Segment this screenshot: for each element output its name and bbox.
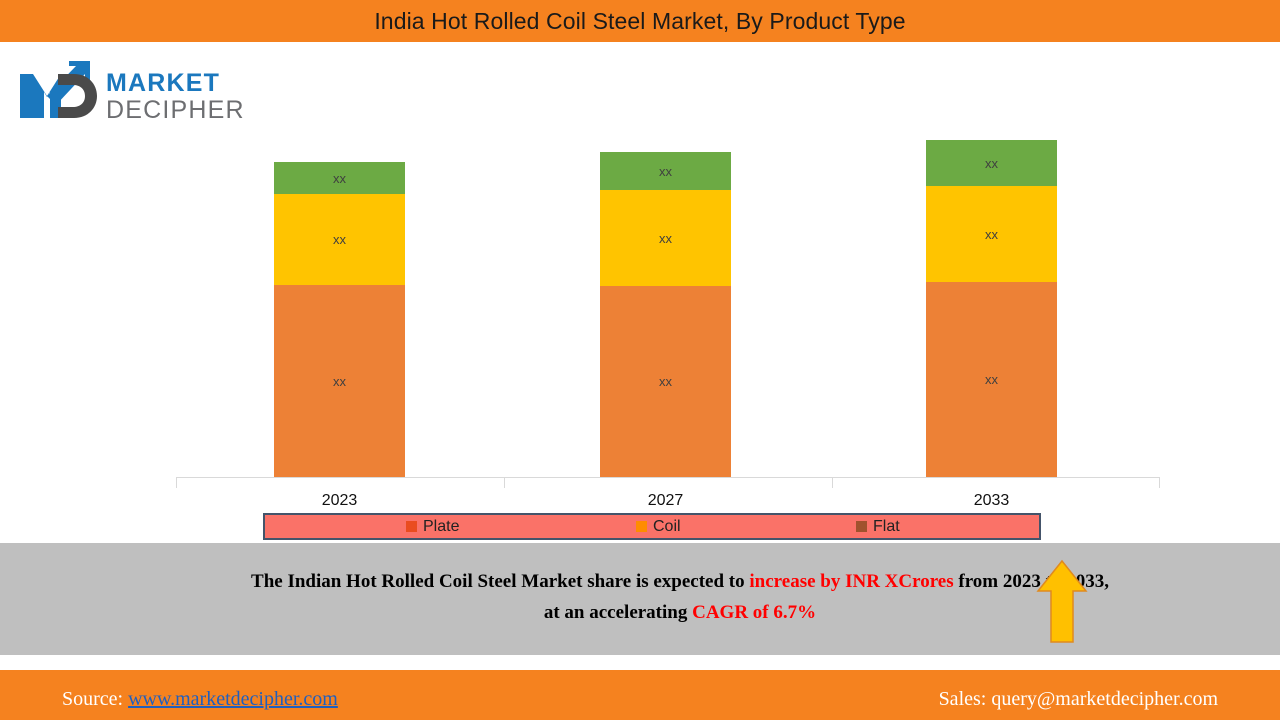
chart-page: India Hot Rolled Coil Steel Market, By P… [0,0,1280,720]
bar-label-flat-2027: xx [659,164,672,179]
bar-label-coil-2027: xx [659,231,672,246]
bar-segment-coil-2033: xx [926,186,1057,282]
footer-source-link[interactable]: www.marketdecipher.com [128,688,338,710]
bar-stack-2033: xx xx xx [926,140,1057,477]
bar-stack-2023: xx xx xx [274,162,405,477]
insight-text: The Indian Hot Rolled Coil Steel Market … [250,566,1110,628]
header-bar: India Hot Rolled Coil Steel Market, By P… [0,0,1280,42]
market-decipher-logo: MARKET DECIPHER [14,56,264,126]
insight-line2-highlight-b: CAGR of 6.7% [692,602,816,623]
axis-tick [1159,478,1160,488]
legend-label-coil: Coil [653,518,681,536]
bar-label-coil-2033: xx [985,227,998,242]
bar-segment-plate-2033: xx [926,282,1057,477]
legend-label-flat: Flat [873,518,900,536]
up-arrow-icon [1036,559,1088,644]
bar-segment-coil-2023: xx [274,194,405,285]
legend-item-coil[interactable]: Coil [636,518,681,536]
bar-label-flat-2033: xx [985,156,998,171]
footer-source-label: Source: [62,688,128,710]
legend-item-flat[interactable]: Flat [856,518,900,536]
category-label-2033: 2033 [926,492,1057,510]
legend-swatch-flat [856,521,867,532]
x-axis-line [176,477,1160,478]
insight-line1-highlight: increase by INR X [749,571,898,592]
page-title: India Hot Rolled Coil Steel Market, By P… [374,8,905,35]
bar-label-coil-2023: xx [333,232,346,247]
bar-segment-coil-2027: xx [600,190,731,286]
axis-tick [176,478,177,488]
bar-segment-plate-2023: xx [274,285,405,477]
bar-label-plate-2027: xx [659,374,672,389]
bar-label-plate-2033: xx [985,372,998,387]
svg-text:MARKET: MARKET [106,69,220,97]
bar-segment-flat-2033: xx [926,140,1057,186]
legend-swatch-coil [636,521,647,532]
category-label-2027: 2027 [600,492,731,510]
bar-segment-flat-2023: xx [274,162,405,194]
footer-source: Source: www.marketdecipher.com [62,688,338,711]
footer-sales: Sales: query@marketdecipher.com [939,688,1218,711]
axis-tick [832,478,833,488]
bar-label-plate-2023: xx [333,374,346,389]
legend-label-plate: Plate [423,518,459,536]
bar-stack-2027: xx xx xx [600,152,731,477]
insight-line1-plain: The Indian Hot Rolled Coil Steel Market … [251,571,749,592]
svg-text:DECIPHER: DECIPHER [106,96,245,124]
axis-tick [504,478,505,488]
insight-line2-highlight-a: Crores [898,571,953,592]
logo-icon: MARKET DECIPHER [14,56,264,126]
legend-item-plate[interactable]: Plate [406,518,459,536]
chart-legend: Plate Coil Flat [263,513,1041,540]
bar-segment-plate-2027: xx [600,286,731,477]
category-label-2023: 2023 [274,492,405,510]
legend-swatch-plate [406,521,417,532]
bar-segment-flat-2027: xx [600,152,731,190]
bar-label-flat-2023: xx [333,171,346,186]
